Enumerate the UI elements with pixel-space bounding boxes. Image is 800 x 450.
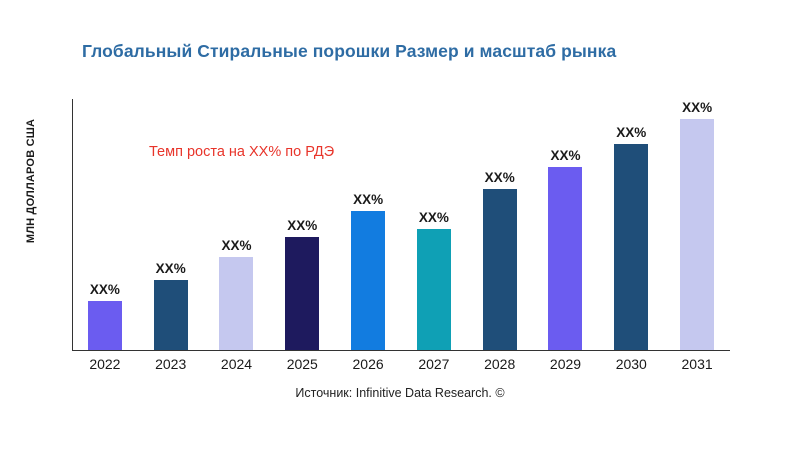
- bar-group: XX%: [598, 99, 664, 351]
- source-caption: Источник: Infinitive Data Research. ©: [0, 386, 800, 400]
- x-axis-tick-labels: 2022202320242025202620272028202920302031: [72, 356, 800, 378]
- bar-2024[interactable]: [219, 257, 253, 350]
- x-tick-2029: 2029: [533, 356, 599, 372]
- bar-value-label-2030: XX%: [616, 125, 646, 140]
- bar-2028[interactable]: [483, 189, 517, 350]
- bar-value-label-2027: XX%: [419, 210, 449, 225]
- bar-2029[interactable]: [548, 167, 582, 350]
- x-tick-2025: 2025: [269, 356, 335, 372]
- y-axis-label: МЛН ДОЛЛАРОВ США: [25, 46, 37, 316]
- bar-2031[interactable]: [680, 119, 714, 350]
- bar-group: XX%: [204, 99, 270, 351]
- y-axis-label-container: МЛН ДОЛЛАРОВ США: [0, 0, 60, 360]
- bar-group: XX%: [138, 99, 204, 351]
- bar-value-label-2028: XX%: [485, 170, 515, 185]
- bar-series: XX%XX%XX%XX%XX%XX%XX%XX%XX%XX%: [72, 99, 800, 351]
- bar-value-label-2022: XX%: [90, 282, 120, 297]
- x-tick-2028: 2028: [467, 356, 533, 372]
- bar-group: XX%: [664, 99, 730, 351]
- bar-2027[interactable]: [417, 229, 451, 350]
- bar-value-label-2026: XX%: [353, 192, 383, 207]
- x-tick-2031: 2031: [664, 356, 730, 372]
- bar-group: XX%: [467, 99, 533, 351]
- x-tick-2024: 2024: [204, 356, 270, 372]
- bar-group: XX%: [269, 99, 335, 351]
- bar-2022[interactable]: [88, 301, 122, 350]
- bar-2023[interactable]: [154, 280, 188, 350]
- growth-rate-annotation: Темп роста на XX% по РДЭ: [149, 144, 334, 160]
- bar-group: XX%: [72, 99, 138, 351]
- x-tick-2023: 2023: [138, 356, 204, 372]
- bar-value-label-2031: XX%: [682, 100, 712, 115]
- x-tick-2030: 2030: [598, 356, 664, 372]
- bar-2025[interactable]: [285, 237, 319, 350]
- bar-2030[interactable]: [614, 144, 648, 350]
- chart-container: Глобальный Стиральные порошки Размер и м…: [0, 0, 800, 450]
- bar-group: XX%: [401, 99, 467, 351]
- bar-group: XX%: [533, 99, 599, 351]
- chart-title: Глобальный Стиральные порошки Размер и м…: [82, 41, 732, 62]
- x-tick-2027: 2027: [401, 356, 467, 372]
- x-tick-2022: 2022: [72, 356, 138, 372]
- bar-group: XX%: [335, 99, 401, 351]
- bar-2026[interactable]: [351, 211, 385, 350]
- bar-value-label-2024: XX%: [221, 238, 251, 253]
- bar-value-label-2029: XX%: [550, 148, 580, 163]
- x-tick-2026: 2026: [335, 356, 401, 372]
- bar-value-label-2025: XX%: [287, 218, 317, 233]
- bar-value-label-2023: XX%: [156, 261, 186, 276]
